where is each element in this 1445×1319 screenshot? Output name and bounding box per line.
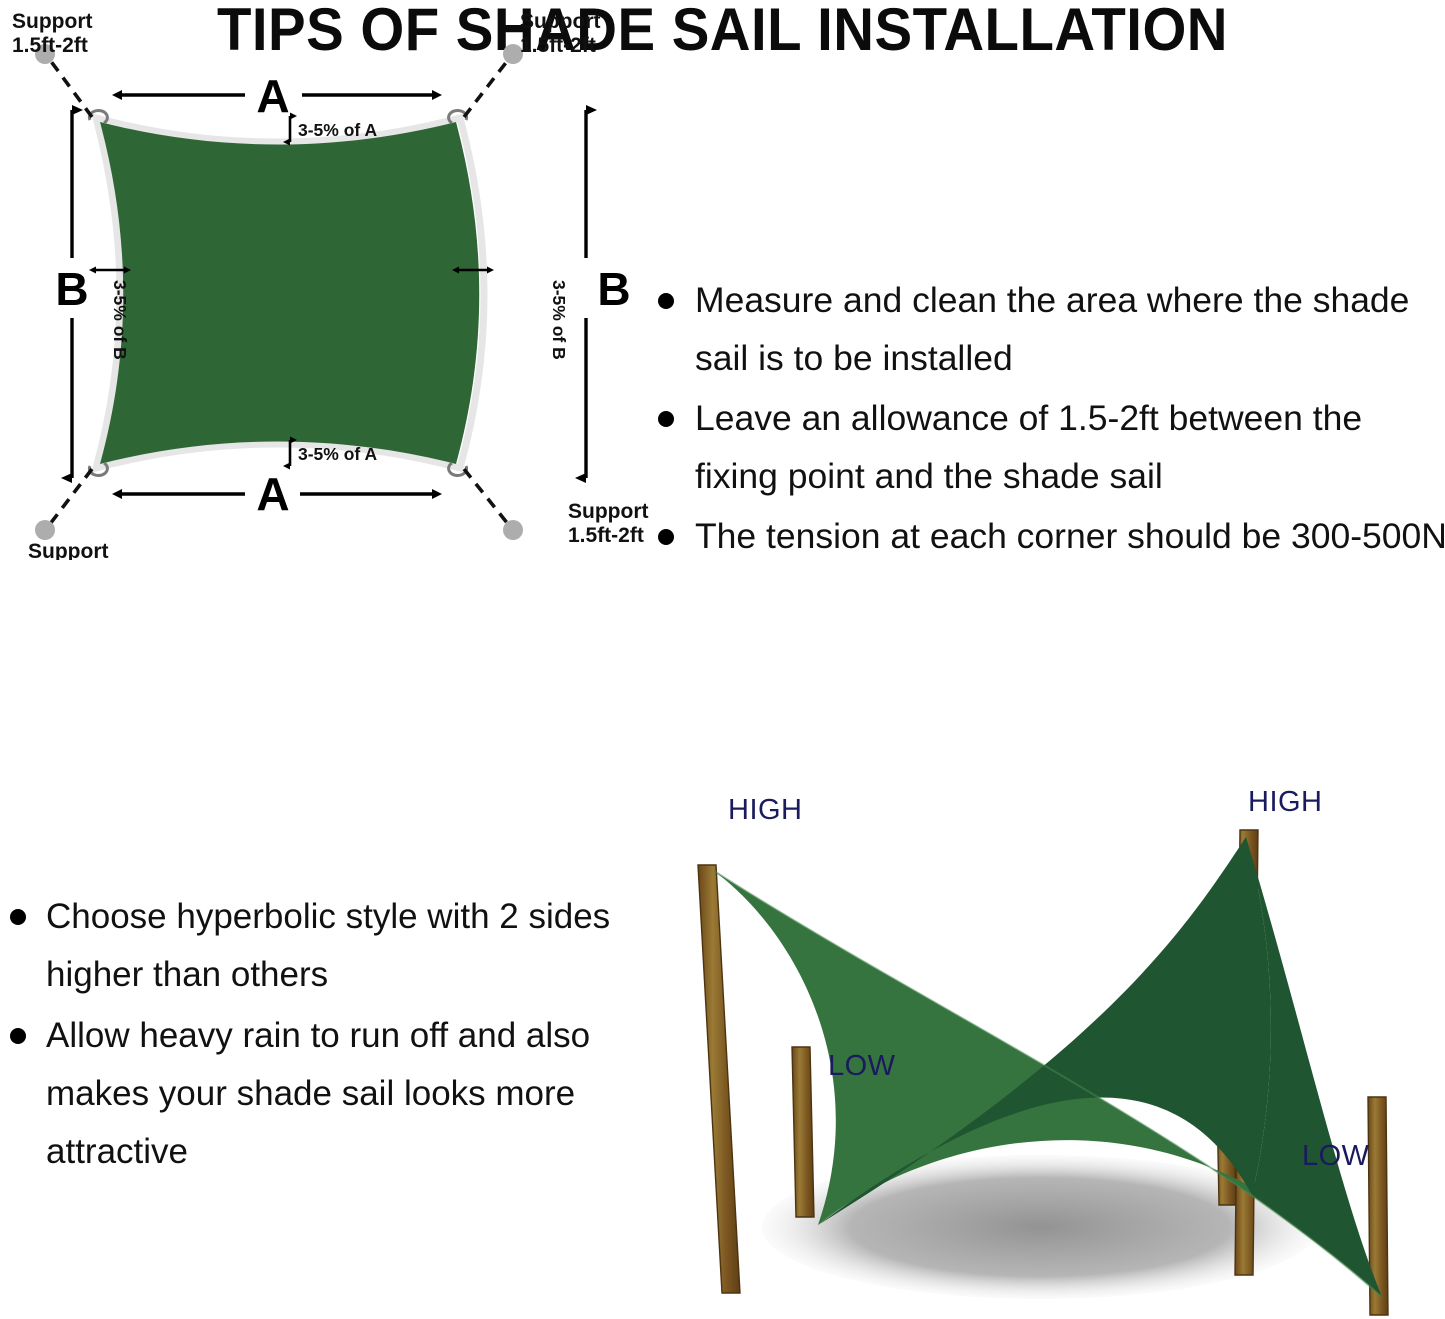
support-label-bottom-right-line2: 1.5ft-2ft — [568, 524, 644, 547]
tips-list-left: Choose hyperbolic style with 2 sides hig… — [0, 888, 620, 1184]
list-item: The tension at each corner should be 300… — [648, 508, 1445, 566]
support-label-top-left-line1: Support — [12, 10, 92, 33]
bullet-dot-icon — [658, 293, 674, 309]
dimension-label-a-top: A — [256, 70, 289, 122]
dimension-label-b-left: B — [55, 263, 88, 315]
support-label-bottom-right-line1: Support — [568, 500, 648, 523]
tip-text: The tension at each corner should be 300… — [695, 516, 1445, 556]
curve-label-b-right: 3-5% of B — [549, 280, 569, 360]
label-high-right: HIGH — [1248, 786, 1323, 818]
list-item: Choose hyperbolic style with 2 sides hig… — [0, 888, 620, 1004]
tip-text: Choose hyperbolic style with 2 sides hig… — [46, 897, 610, 994]
bullet-dot-icon — [10, 909, 26, 925]
tip-text: Allow heavy rain to run off and also mak… — [46, 1016, 590, 1171]
support-label-top-right-line2: 1.5ft-2ft — [520, 34, 596, 57]
support-dot-bottom-right — [503, 520, 523, 540]
dimension-label-b-right: B — [597, 263, 630, 315]
label-low-left: LOW — [828, 1050, 896, 1082]
support-dot-bottom-left — [35, 520, 55, 540]
tip-text: Leave an allowance of 1.5-2ft between th… — [695, 398, 1362, 496]
support-label-top-left-line2: 1.5ft-2ft — [12, 34, 88, 57]
infographic-page: TIPS OF SHADE SAIL INSTALLATION — [0, 0, 1445, 1319]
bullet-dot-icon — [10, 1028, 26, 1044]
sail-fabric — [100, 122, 479, 464]
label-low-right: LOW — [1302, 1140, 1370, 1172]
list-item: Leave an allowance of 1.5-2ft between th… — [648, 390, 1445, 505]
support-label-top-right: Support 1.5ft-2ft — [520, 10, 600, 57]
dimension-label-a-bottom: A — [256, 468, 289, 520]
hyperbolic-sail-illustration: HIGH HIGH LOW LOW — [640, 775, 1445, 1319]
support-label-bottom-left-line1: Support — [28, 540, 108, 560]
post-low-left — [792, 1047, 814, 1217]
bullet-dot-icon — [658, 529, 674, 545]
support-label-bottom-right: Support 1.5ft-2ft — [568, 500, 648, 547]
post-high-left — [698, 865, 740, 1293]
label-high-left: HIGH — [728, 794, 803, 826]
curve-label-a-top: 3-5% of A — [298, 120, 377, 140]
tip-text: Measure and clean the area where the sha… — [695, 280, 1409, 378]
list-item: Allow heavy rain to run off and also mak… — [0, 1007, 620, 1181]
rectangular-sail-diagram: A 3-5% of A A 3-5% of A B — [0, 0, 660, 560]
bullet-dot-icon — [658, 411, 674, 427]
list-item: Measure and clean the area where the sha… — [648, 272, 1445, 387]
support-label-top-left: Support 1.5ft-2ft — [12, 10, 92, 57]
tips-list-right: Measure and clean the area where the sha… — [648, 272, 1445, 569]
curve-label-b-left: 3-5% of B — [110, 280, 130, 360]
support-label-bottom-left: Support 1.5ft-2ft — [28, 540, 108, 560]
curve-label-a-bottom: 3-5% of A — [298, 444, 377, 464]
support-label-top-right-line1: Support — [520, 10, 600, 33]
